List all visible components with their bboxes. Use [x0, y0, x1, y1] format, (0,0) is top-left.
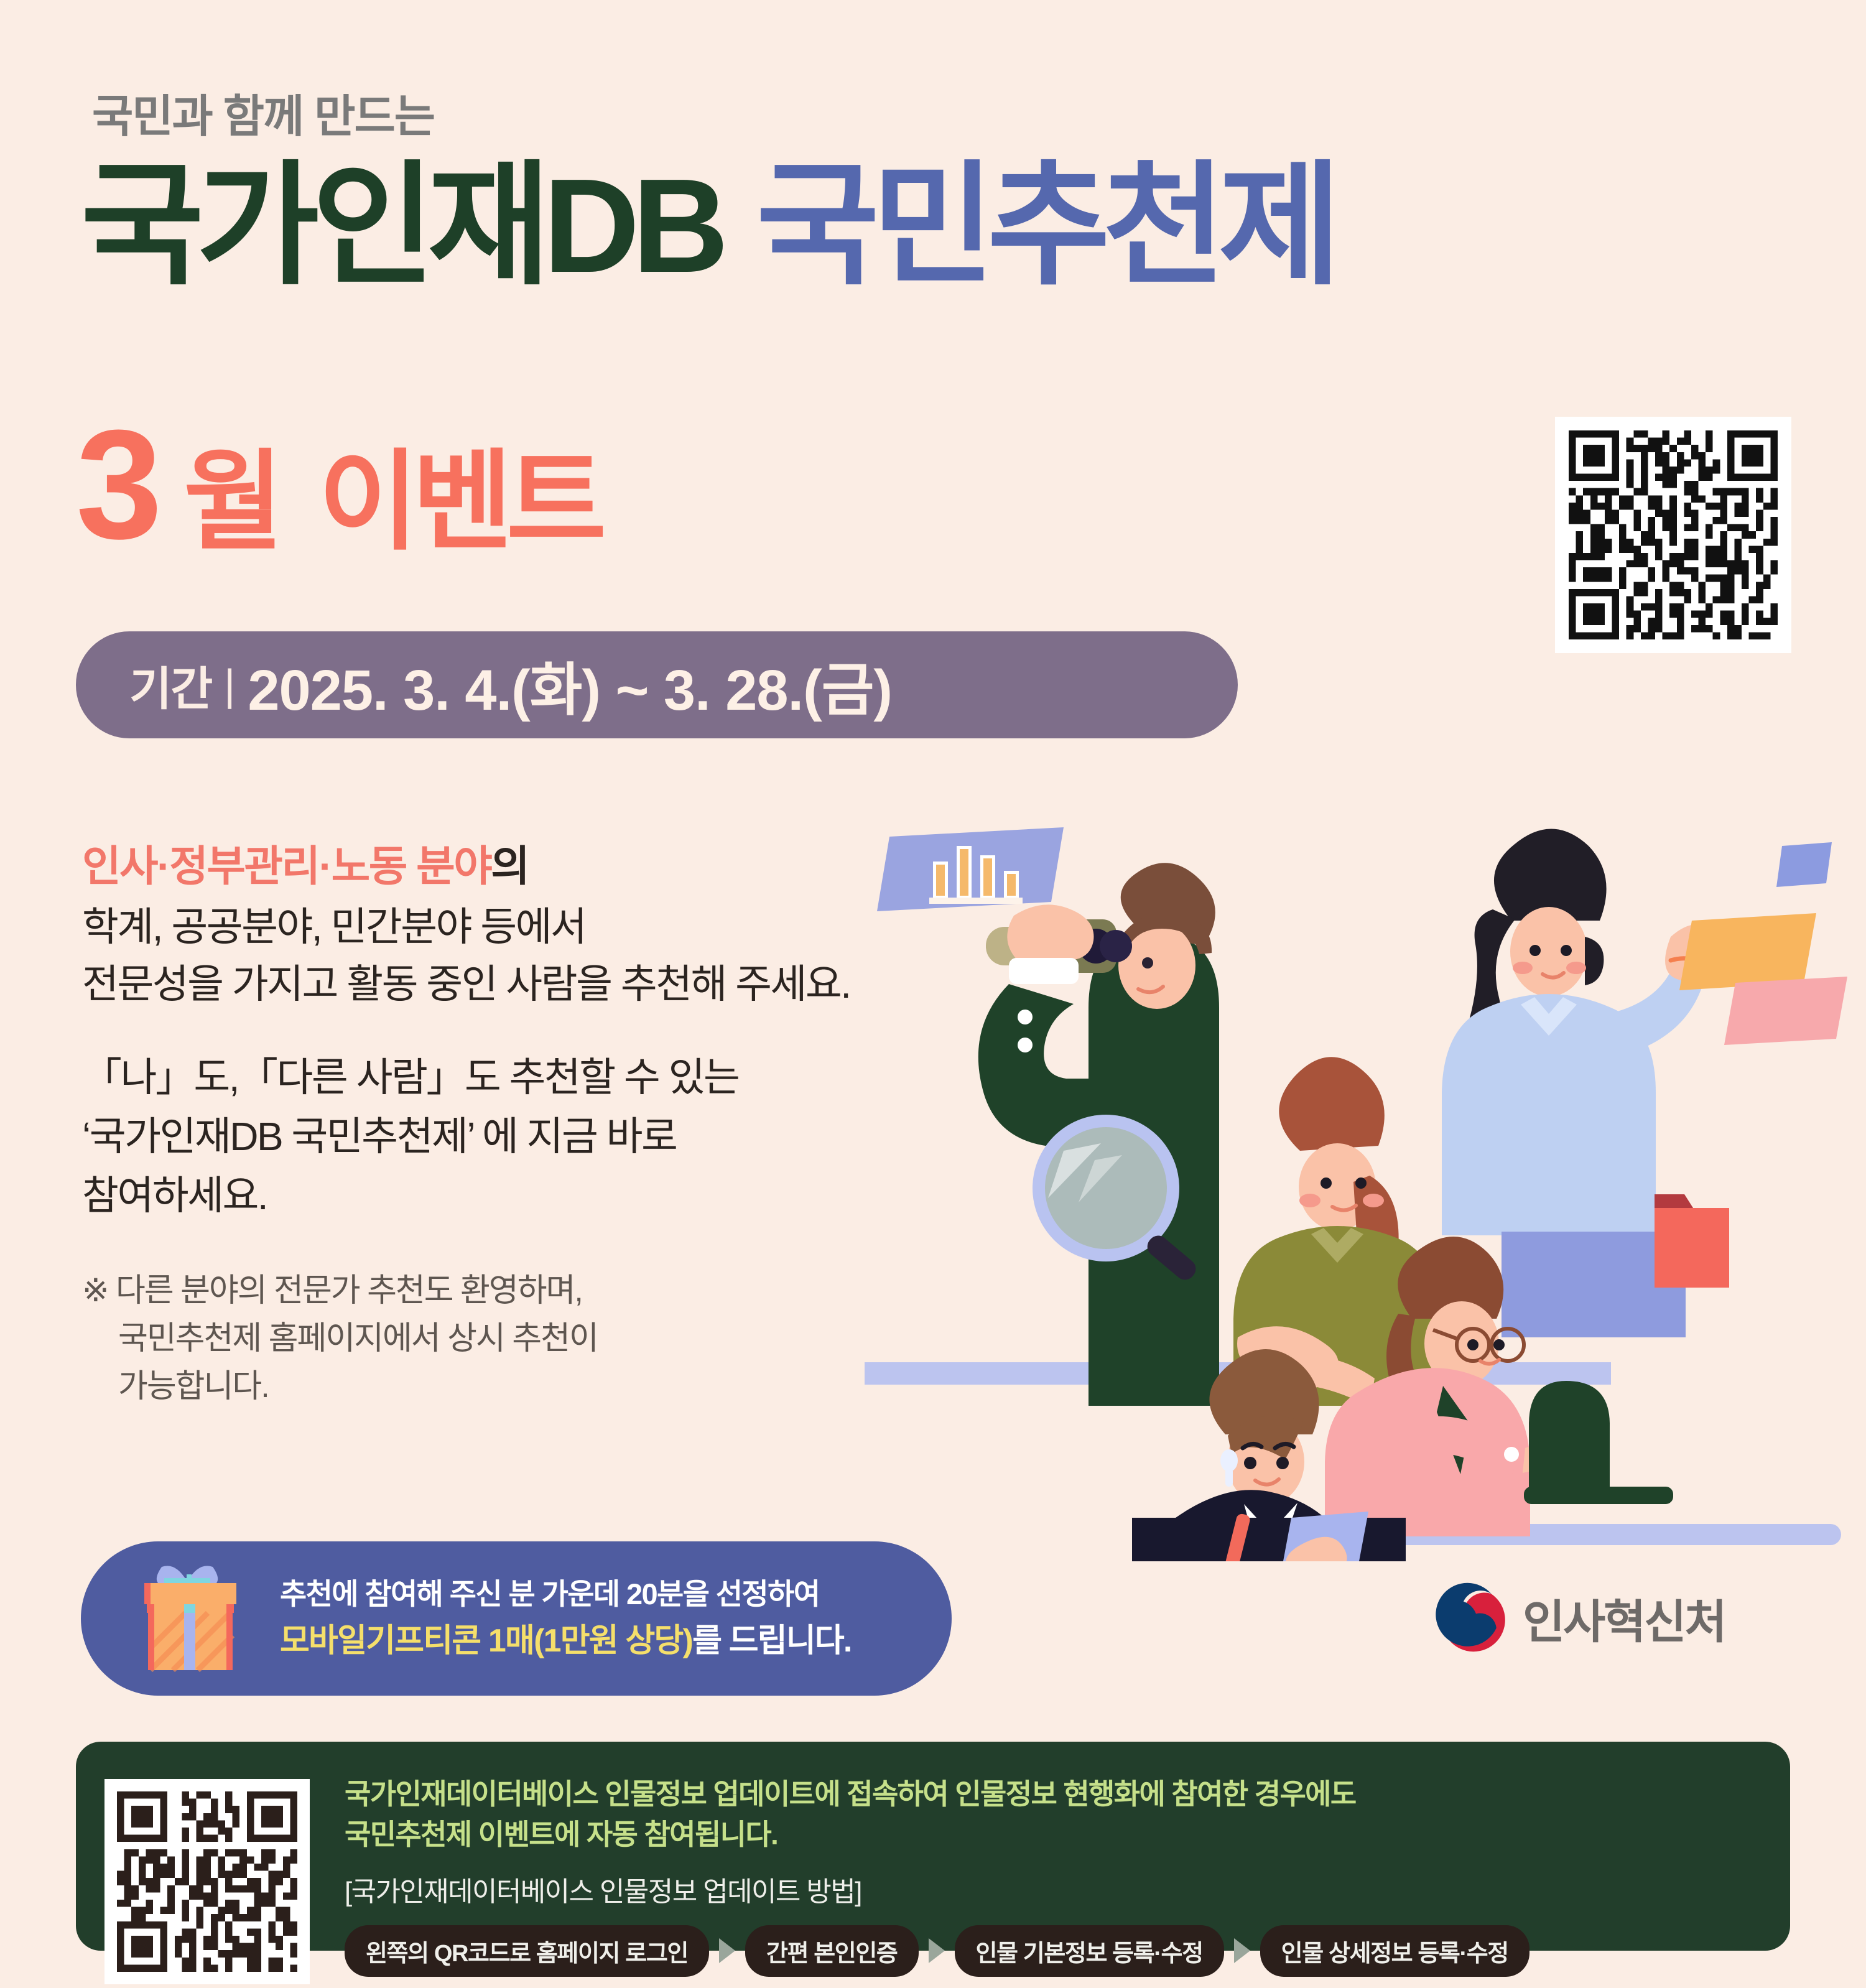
copy-note: ※ 다른 분야의 전문가 추천도 환영하며, 국민추천제 홈페이지에서 상시 추… — [82, 1267, 891, 1411]
qr-code-top[interactable] — [1555, 417, 1791, 653]
gift-box-icon — [129, 1561, 245, 1676]
qr-code-top-image — [1569, 430, 1778, 639]
period-separator: | — [224, 660, 235, 710]
footer-text: 국가인재데이터베이스 인물정보 업데이트에 접속하여 인물정보 현행화에 참여한… — [345, 1770, 1529, 1977]
footer-line-2: 국민추천제 이벤트에 자동 참여됩니다. — [345, 1814, 1529, 1855]
footer-steps: 왼쪽의 QR코드로 홈페이지 로그인 간편 본인인증 인물 기본정보 등록·수정… — [345, 1925, 1529, 1977]
chevron-right-icon-2 — [929, 1938, 945, 1963]
step-4[interactable]: 인물 상세정보 등록·수정 — [1260, 1925, 1529, 1977]
event-headline: 3 2025 월 이벤트 — [76, 411, 600, 559]
gift-banner: 추천에 참여해 주신 분 가운데 20분을 선정하여 모바일기프티콘 1매(1만… — [81, 1541, 952, 1696]
card-orange — [1679, 913, 1816, 990]
gift-box-image — [129, 1561, 245, 1676]
illustration-artwork — [865, 802, 1847, 1561]
title-part-blue: 국민추천제 — [756, 159, 1334, 292]
taeguk-logo-icon — [1431, 1580, 1506, 1656]
footer-line-1: 국가인재데이터베이스 인물정보 업데이트에 접속하여 인물정보 현행화에 참여한… — [345, 1774, 1529, 1814]
step-2[interactable]: 간편 본인인증 — [745, 1925, 919, 1977]
gift-line-1: 추천에 참여해 주신 분 가운데 20분을 선정하여 — [280, 1572, 852, 1617]
note-line-2: 국민추천제 홈페이지에서 상시 추천이 — [82, 1315, 891, 1363]
gift-highlight: 모바일기프티콘 1매(1만원 상당) — [280, 1623, 692, 1659]
illustration — [865, 802, 1847, 1561]
copy-p3-line2: ‘국가인재DB 국민추천제’ 에 지금 바로 — [82, 1107, 891, 1166]
copy-paragraph-3: 「나」도,「다른 사람」도 추천할 수 있는 ‘국가인재DB 국민추천제’ 에 … — [82, 1048, 891, 1225]
copy-p2-line1: 학계, 공공분야, 민간분야 등에서 — [82, 898, 891, 956]
copy-p2-line2: 전문성을 가지고 활동 중인 사람을 추천해 주세요. — [82, 955, 891, 1013]
gift-text: 추천에 참여해 주신 분 가운데 20분을 선정하여 모바일기프티콘 1매(1만… — [280, 1572, 852, 1666]
period-banner: 기간 | 2025. 3. 4.(화) ~ 3. 28.(금) — [76, 631, 1238, 738]
period-label: 기간 — [129, 652, 211, 718]
qr-code-bottom-image — [117, 1791, 297, 1972]
copy-paragraph-2: 학계, 공공분야, 민간분야 등에서 전문성을 가지고 활동 중인 사람을 추천… — [82, 898, 891, 1014]
ministry-name: 인사혁신처 — [1523, 1585, 1725, 1651]
card-pink — [1724, 977, 1847, 1045]
copy-p3-line1: 「나」도,「다른 사람」도 추천할 수 있는 — [82, 1048, 891, 1107]
copy-paragraph-1: 인사·정부관리·노동 분야의 — [82, 837, 891, 897]
step-3[interactable]: 인물 기본정보 등록·수정 — [955, 1925, 1224, 1977]
note-line-3: 가능합니다. — [82, 1363, 891, 1411]
month-number: 3 2025 — [76, 411, 156, 559]
body-copy: 인사·정부관리·노동 분야의 학계, 공공분야, 민간분야 등에서 전문성을 가… — [82, 837, 891, 1411]
card-blue — [1776, 842, 1832, 887]
kicker-text: 국민과 함께 만드는 — [92, 80, 434, 145]
copy-p1-tail: 의 — [491, 843, 528, 890]
copy-highlight-fields: 인사·정부관리·노동 분야 — [82, 843, 491, 890]
page-title: 국가인재DB 국민추천제 — [81, 159, 1334, 292]
footer-method-title: [국가인재데이터베이스 인물정보 업데이트 방법] — [345, 1869, 1529, 1909]
taeguk-logo-image — [1431, 1580, 1506, 1656]
month-word: 월 — [183, 451, 277, 558]
bar-chart-card-icon — [877, 827, 1064, 911]
year-label: 2025 — [164, 411, 189, 532]
gift-line-2: 모바일기프티콘 1매(1만원 상당)를 드립니다. — [280, 1617, 852, 1665]
chevron-right-icon-3 — [1234, 1938, 1250, 1963]
note-line-1: ※ 다른 분야의 전문가 추천도 환영하며, — [82, 1267, 891, 1315]
month-number-digit: 3 — [76, 397, 156, 571]
footer-panel: 국가인재데이터베이스 인물정보 업데이트에 접속하여 인물정보 현행화에 참여한… — [76, 1742, 1790, 1951]
ministry-logo-block: 인사혁신처 — [1431, 1580, 1725, 1656]
title-part-green: 국가인재DB — [81, 159, 722, 292]
folder-icon — [1655, 1194, 1729, 1288]
gift-line-2-tail: 를 드립니다. — [692, 1623, 852, 1659]
event-word: 이벤트 — [318, 451, 600, 558]
chevron-right-icon-1 — [719, 1938, 735, 1963]
qr-code-bottom[interactable] — [104, 1779, 310, 1984]
step-1[interactable]: 왼쪽의 QR코드로 홈페이지 로그인 — [345, 1925, 709, 1977]
copy-p3-line3: 참여하세요. — [82, 1166, 891, 1225]
period-dates: 2025. 3. 4.(화) ~ 3. 28.(금) — [248, 644, 892, 727]
